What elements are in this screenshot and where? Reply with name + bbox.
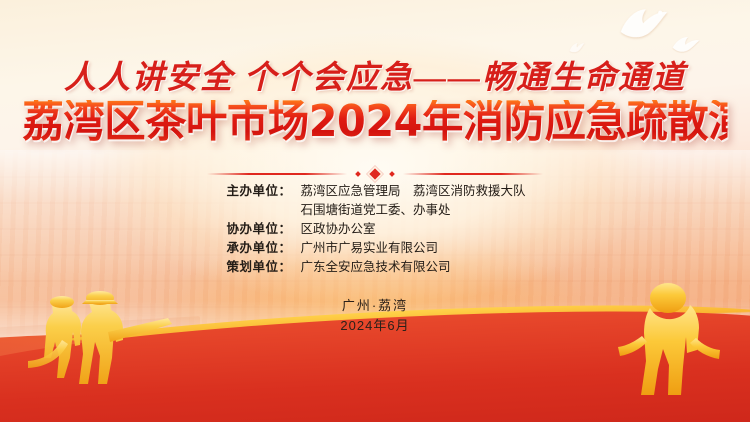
credits-block: 主办单位： 荔湾区应急管理局 荔湾区消防救援大队 石围塘街道党工委、办事处 协办…	[0, 182, 750, 277]
credit-label: 协办单位：	[220, 220, 292, 239]
credit-value: 石围塘街道党工委、办事处	[292, 201, 531, 220]
poster-canvas: 人人讲安全 个个会应急——畅通生命通道 荔湾区茶叶市场2024年消防应急疏散演练…	[0, 0, 750, 422]
credit-value: 区政协办公室	[292, 220, 531, 239]
footer-block: 广州·荔湾 2024年6月	[0, 296, 750, 336]
credit-row: 协办单位： 区政协办公室	[0, 220, 750, 239]
credit-label: 策划单位：	[220, 258, 292, 277]
credit-row: 主办单位： 荔湾区应急管理局 荔湾区消防救援大队	[0, 182, 750, 201]
credit-value: 荔湾区应急管理局 荔湾区消防救援大队	[292, 182, 531, 201]
credit-row: 石围塘街道党工委、办事处	[0, 201, 750, 220]
page-title: 荔湾区茶叶市场2024年消防应急疏散演练	[23, 100, 728, 144]
divider-dot-left	[355, 171, 361, 177]
location-text: 广州·荔湾	[0, 296, 750, 316]
credit-row: 承办单位： 广州市广易实业有限公司	[0, 239, 750, 258]
slogan-text: 人人讲安全 个个会应急——畅通生命通道	[0, 52, 750, 98]
divider-rule-right	[403, 173, 543, 175]
divider-dot-right	[389, 171, 395, 177]
diamond-ornament-icon	[367, 166, 384, 183]
credit-value: 广州市广易实业有限公司	[292, 239, 531, 258]
divider-rule-left	[207, 173, 347, 175]
divider	[0, 168, 750, 180]
credit-label: 承办单位：	[220, 239, 292, 258]
credit-label: 主办单位：	[220, 182, 292, 201]
poster-content: 人人讲安全 个个会应急——畅通生命通道 荔湾区茶叶市场2024年消防应急疏散演练…	[0, 0, 750, 422]
credit-row: 策划单位： 广东全安应急技术有限公司	[0, 258, 750, 277]
credit-value: 广东全安应急技术有限公司	[292, 258, 531, 277]
date-text: 2024年6月	[0, 316, 750, 336]
